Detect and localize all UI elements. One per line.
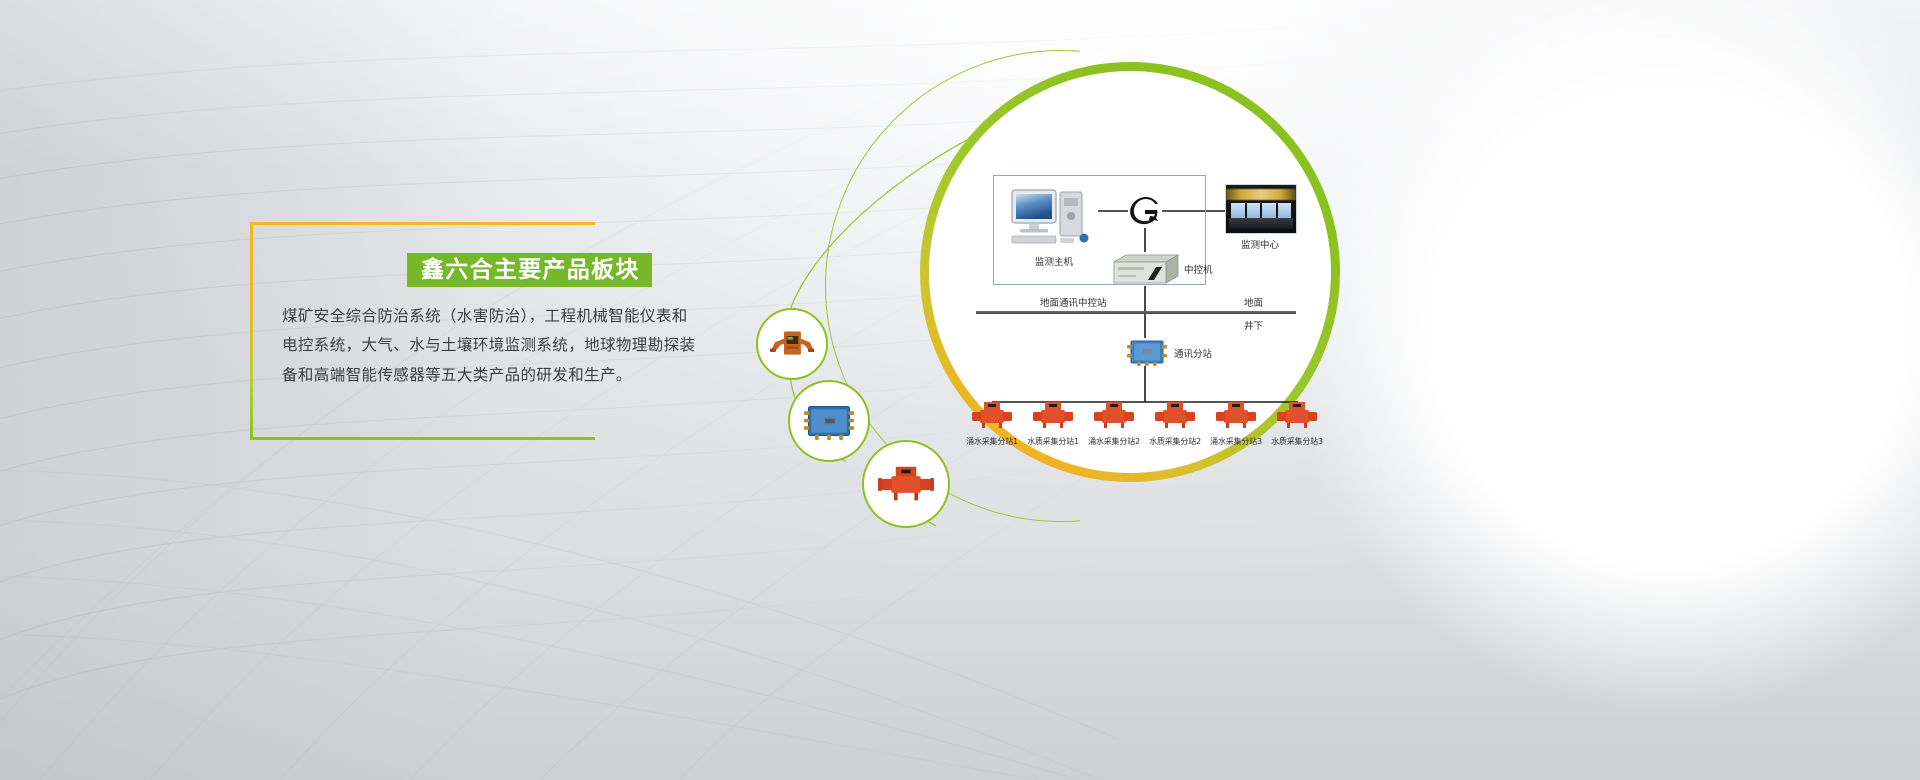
station-item: 水质采集分站2 bbox=[1149, 400, 1201, 447]
comm-substation-label: 通讯分站 bbox=[1174, 346, 1212, 360]
red-valve-icon bbox=[970, 400, 1014, 430]
station-item: 水质采集分站1 bbox=[1027, 400, 1079, 447]
station-item: 涌水采集分站2 bbox=[1088, 400, 1140, 447]
description-text: 煤矿安全综合防治系统（水害防治），工程机械智能仪表和 电控系统，大气、水与土壤环… bbox=[282, 308, 710, 396]
station-label: 水质采集分站3 bbox=[1271, 436, 1323, 447]
red-valve-icon bbox=[1214, 400, 1258, 430]
description-line-2: 电控系统，大气、水与土壤环境监测系统，地球物理勘探装 bbox=[282, 337, 710, 353]
red-valve-icon bbox=[1275, 400, 1319, 430]
system-topology-diagram: 监测主机 监测中心 中控机 地面通讯中控站 地面 井下 bbox=[948, 90, 1320, 462]
surface-comm-station-label: 地面通讯中控站 bbox=[1040, 295, 1107, 309]
red-valve-icon bbox=[1031, 400, 1075, 430]
central-controller-label: 中控机 bbox=[1184, 262, 1213, 276]
orange-instrument-icon bbox=[768, 326, 816, 362]
ground-level-divider bbox=[976, 311, 1296, 314]
desktop-computer-icon bbox=[1010, 186, 1096, 252]
product-bubble-red-valve[interactable] bbox=[862, 440, 950, 528]
station-item: 水质采集分站3 bbox=[1271, 400, 1323, 447]
station-item: 涌水采集分站3 bbox=[1210, 400, 1262, 447]
blue-explosion-proof-box-icon bbox=[1126, 338, 1168, 366]
station-item: 涌水采集分站1 bbox=[966, 400, 1018, 447]
zone-label-surface: 地面 bbox=[1244, 295, 1263, 309]
monitor-center-label: 监测中心 bbox=[1220, 237, 1300, 251]
red-valve-icon bbox=[1153, 400, 1197, 430]
collection-stations-row: 涌水采集分站1 水质采集分站1 bbox=[970, 400, 1300, 460]
zone-label-underground: 井下 bbox=[1244, 318, 1263, 332]
red-valve-icon bbox=[1092, 400, 1136, 430]
station-label: 水质采集分站1 bbox=[1027, 436, 1079, 447]
station-label: 水质采集分站2 bbox=[1149, 436, 1201, 447]
background-white-glow bbox=[1260, 0, 1920, 780]
internet-e-icon bbox=[1128, 194, 1162, 228]
description-line-1: 煤矿安全综合防治系统（水害防治），工程机械智能仪表和 bbox=[282, 308, 710, 324]
banner-stage: 鑫六合主要产品板块 煤矿安全综合防治系统（水害防治），工程机械智能仪表和 电控系… bbox=[0, 0, 1920, 780]
control-room-icon bbox=[1225, 184, 1297, 234]
station-label: 涌水采集分站1 bbox=[966, 436, 1018, 447]
server-box-icon bbox=[1108, 252, 1180, 286]
blue-junction-box-icon bbox=[801, 401, 857, 442]
red-flow-valve-icon bbox=[877, 464, 935, 505]
product-bubble-blue-box[interactable] bbox=[788, 380, 870, 462]
section-title-banner: 鑫六合主要产品板块 bbox=[407, 253, 652, 287]
product-bubble-orange-instrument[interactable] bbox=[756, 308, 828, 380]
description-line-3: 备和高端智能传感器等五大类产品的研发和生产。 bbox=[282, 367, 710, 383]
station-label: 涌水采集分站2 bbox=[1088, 436, 1140, 447]
station-label: 涌水采集分站3 bbox=[1210, 436, 1262, 447]
monitor-host-label: 监测主机 bbox=[1006, 254, 1102, 268]
page-title: 鑫六合主要产品板块 bbox=[421, 259, 640, 282]
